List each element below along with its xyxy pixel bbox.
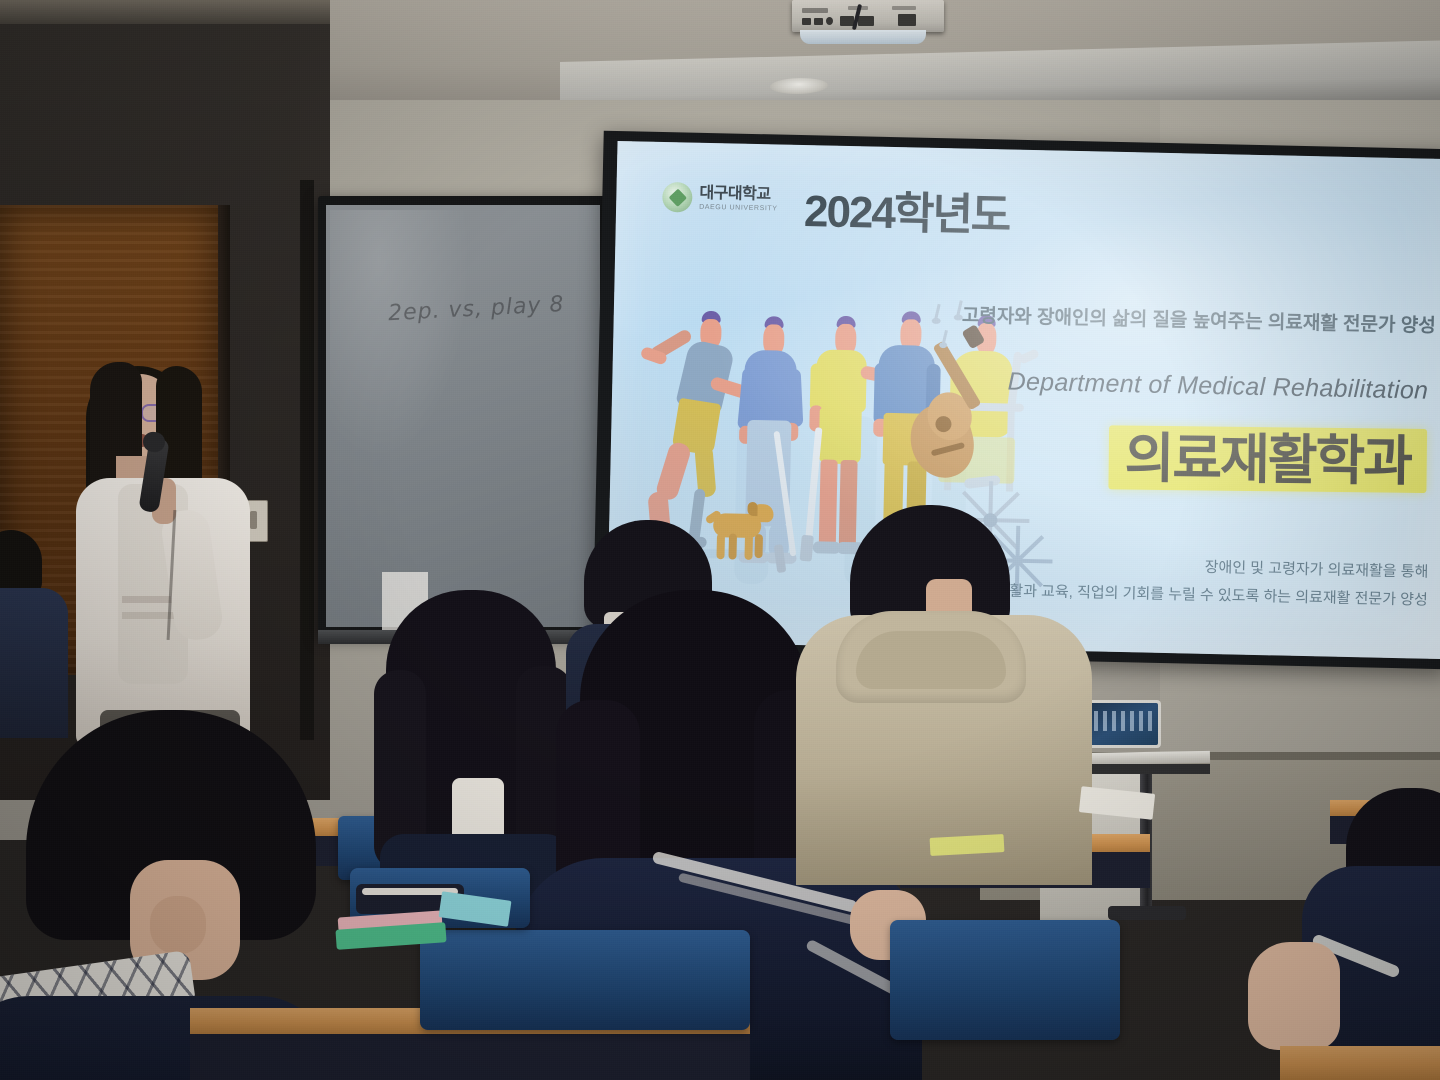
department-korean-name: 의료재활학과: [1124, 429, 1411, 492]
logo-korean-name: 대구대학교: [699, 185, 778, 203]
projector: [792, 0, 944, 32]
desk-front-right: [1280, 1046, 1440, 1080]
table-base: [1108, 906, 1186, 920]
department-title-block: 의료재활학과: [1108, 424, 1427, 495]
department-english-name: Department of Medical Rehabilitation: [1007, 368, 1428, 406]
projector-light-spill: [800, 30, 926, 44]
daegu-university-emblem-icon: [662, 182, 693, 213]
chair-front-center[interactable]: [420, 930, 750, 1030]
student-right-navy-uniform: [1250, 800, 1440, 1080]
university-logo: 대구대학교 DAEGU UNIVERSITY: [662, 182, 778, 215]
door-frame: [300, 180, 314, 740]
highlight-band: 의료재활학과: [1108, 425, 1427, 493]
left-wall-top-trim: [0, 0, 330, 24]
whiteboard-glare: [330, 210, 470, 460]
desk-front-left-front: [190, 1034, 750, 1080]
chair-front-right[interactable]: [890, 920, 1120, 1040]
slide-year-label: 2024학년도: [803, 175, 1010, 243]
logo-english-name: DAEGU UNIVERSITY: [699, 203, 778, 212]
acoustic-guitar: [904, 341, 1017, 493]
classroom-scene: 2ep. vs, play 8: [0, 0, 1440, 1080]
student-far-left-edge: [0, 530, 80, 730]
